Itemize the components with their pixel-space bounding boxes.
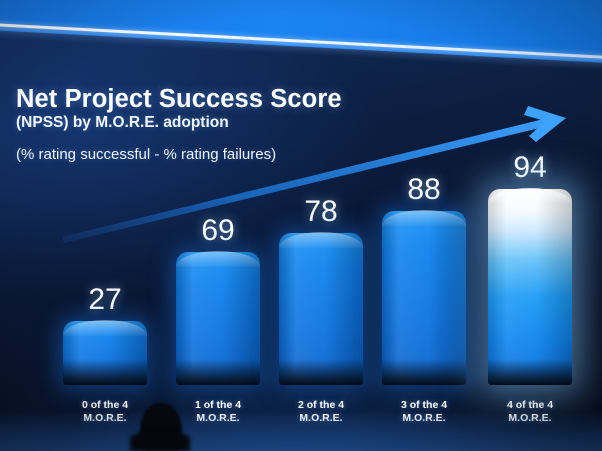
bar-value: 69 [176, 214, 260, 248]
bar-group-2: 78 2 of the 4 M.O.R.E. [279, 233, 363, 385]
bar [63, 321, 147, 385]
bar [176, 252, 260, 385]
bar-chart: 27 0 of the 4 M.O.R.E. 69 1 of the 4 M.O… [0, 0, 602, 451]
bar-cap [382, 210, 466, 226]
bar-value: 27 [63, 283, 147, 317]
bar-value: 94 [488, 151, 572, 185]
audience-silhouette [140, 403, 182, 451]
bar-group-0: 27 0 of the 4 M.O.R.E. [63, 321, 147, 385]
bar [488, 189, 572, 385]
bar-cap [176, 251, 260, 267]
bar [382, 211, 466, 385]
bar-value: 88 [382, 173, 466, 207]
bar-cap [63, 320, 147, 336]
bar-cap [279, 232, 363, 248]
stage-floor-glow [0, 411, 602, 451]
bar-group-4: 94 4 of the 4 M.O.R.E. [488, 189, 572, 385]
presentation-slide: Net Project Success Score (NPSS) by M.O.… [0, 0, 602, 451]
bar [279, 233, 363, 385]
bar-group-3: 88 3 of the 4 M.O.R.E. [382, 211, 466, 385]
bar-value: 78 [279, 195, 363, 229]
bar-group-1: 69 1 of the 4 M.O.R.E. [176, 252, 260, 385]
bar-cap [488, 188, 572, 204]
